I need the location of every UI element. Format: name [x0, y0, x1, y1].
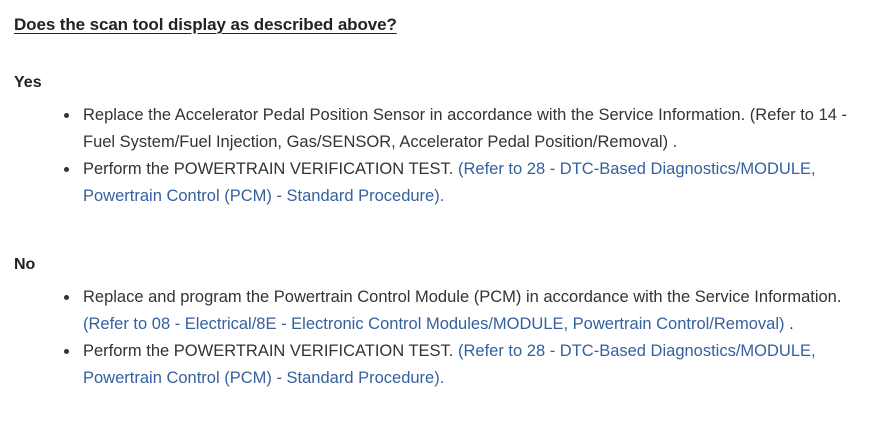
answer-list-yes: Replace the Accelerator Pedal Position S… [14, 102, 865, 210]
step-text: Perform the POWERTRAIN VERIFICATION TEST… [83, 160, 453, 178]
branch-label-yes: Yes [14, 73, 865, 93]
answer-list-no: Replace and program the Powertrain Contr… [14, 284, 865, 392]
reference-link[interactable]: (Refer to 08 - Electrical/8E - Electroni… [83, 315, 785, 333]
step-text: Replace and program the Powertrain Contr… [83, 288, 841, 306]
bullet-icon [64, 113, 69, 118]
list-item: Replace the Accelerator Pedal Position S… [14, 102, 865, 156]
bullet-icon [64, 167, 69, 172]
branch-label-no: No [14, 255, 865, 275]
diagnostic-procedure-page: Does the scan tool display as described … [0, 0, 879, 443]
branch-yes: Yes Replace the Accelerator Pedal Positi… [14, 73, 865, 210]
bullet-icon [64, 349, 69, 354]
list-item: Perform the POWERTRAIN VERIFICATION TEST… [14, 156, 865, 210]
page-title: Does the scan tool display as described … [14, 14, 397, 36]
list-item: Perform the POWERTRAIN VERIFICATION TEST… [14, 338, 865, 392]
step-text: Replace the Accelerator Pedal Position S… [83, 106, 745, 124]
trailing-punctuation: . [668, 133, 677, 151]
step-text: Perform the POWERTRAIN VERIFICATION TEST… [83, 342, 453, 360]
branch-no: No Replace and program the Powertrain Co… [14, 255, 865, 392]
trailing-punctuation: . [785, 315, 794, 333]
list-item: Replace and program the Powertrain Contr… [14, 284, 865, 338]
bullet-icon [64, 295, 69, 300]
